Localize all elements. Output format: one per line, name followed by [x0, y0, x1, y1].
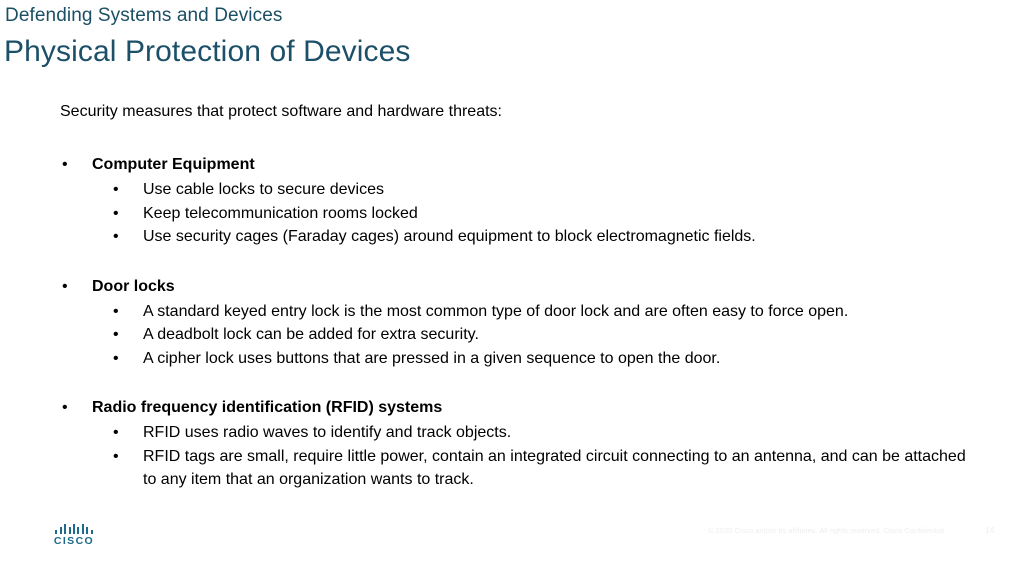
group-spacer: [60, 379, 980, 395]
bullet-level1-label: Computer Equipment: [92, 156, 255, 173]
bullet-level2: • Keep telecommunication rooms locked: [60, 202, 980, 226]
page-title: Physical Protection of Devices: [4, 33, 411, 71]
bullet-level1: • Door locks: [60, 274, 980, 299]
bullet-dot-icon: •: [113, 323, 119, 347]
copyright-text: © 2020 Cisco and/or its affiliates. All …: [708, 526, 944, 536]
bullet-dot-icon: •: [113, 445, 119, 469]
bullet-dot-icon: •: [113, 202, 119, 226]
bullet-dot-icon: •: [62, 274, 68, 299]
bullet-level2-label: RFID tags are small, require little powe…: [143, 448, 966, 489]
bullet-dot-icon: •: [113, 347, 119, 371]
bullet-dot-icon: •: [113, 225, 119, 249]
bullet-level1-label: Door locks: [92, 278, 175, 295]
cisco-bars-icon: [46, 523, 102, 534]
bullet-dot-icon: •: [113, 421, 119, 445]
bullet-level2-label: Use security cages (Faraday cages) aroun…: [143, 228, 756, 245]
bullet-level2: • Use cable locks to secure devices: [60, 178, 980, 202]
slide: Defending Systems and Devices Physical P…: [0, 0, 1024, 576]
slide-body: Security measures that protect software …: [60, 100, 980, 501]
bullet-level2-label: A cipher lock uses buttons that are pres…: [143, 350, 720, 367]
cisco-wordmark: CISCO: [46, 535, 102, 547]
slide-eyebrow: Defending Systems and Devices: [5, 5, 282, 27]
bullet-level2-label: A standard keyed entry lock is the most …: [143, 303, 848, 320]
bullet-level1: • Computer Equipment: [60, 152, 980, 177]
bullet-level1-label: Radio frequency identification (RFID) sy…: [92, 399, 442, 416]
bullet-level2: • RFID uses radio waves to identify and …: [60, 421, 980, 445]
bullet-level2-label: A deadbolt lock can be added for extra s…: [143, 326, 479, 343]
bullet-level2-label: Keep telecommunication rooms locked: [143, 205, 418, 222]
bullet-level1: • Radio frequency identification (RFID) …: [60, 395, 980, 420]
intro-text: Security measures that protect software …: [60, 100, 980, 123]
bullet-level2: • A deadbolt lock can be added for extra…: [60, 323, 980, 347]
bullet-dot-icon: •: [113, 178, 119, 202]
slide-footer: CISCO © 2020 Cisco and/or its affiliates…: [0, 520, 1024, 576]
bullet-dot-icon: •: [62, 395, 68, 420]
page-number: 14: [985, 525, 994, 536]
group-spacer: [60, 258, 980, 274]
bullet-level2: • RFID tags are small, require little po…: [60, 445, 980, 492]
bullet-group: • Door locks • A standard keyed entry lo…: [60, 274, 980, 371]
cisco-logo: CISCO: [46, 523, 102, 547]
bullet-group: • Radio frequency identification (RFID) …: [60, 395, 980, 492]
bullet-dot-icon: •: [62, 152, 68, 177]
bullet-level2: • Use security cages (Faraday cages) aro…: [60, 225, 980, 249]
bullet-group: • Computer Equipment • Use cable locks t…: [60, 152, 980, 249]
bullet-level2: • A standard keyed entry lock is the mos…: [60, 300, 980, 324]
bullet-level2: • A cipher lock uses buttons that are pr…: [60, 347, 980, 371]
bullet-level2-label: RFID uses radio waves to identify and tr…: [143, 424, 511, 441]
bullet-level2-label: Use cable locks to secure devices: [143, 181, 384, 198]
bullet-dot-icon: •: [113, 300, 119, 324]
